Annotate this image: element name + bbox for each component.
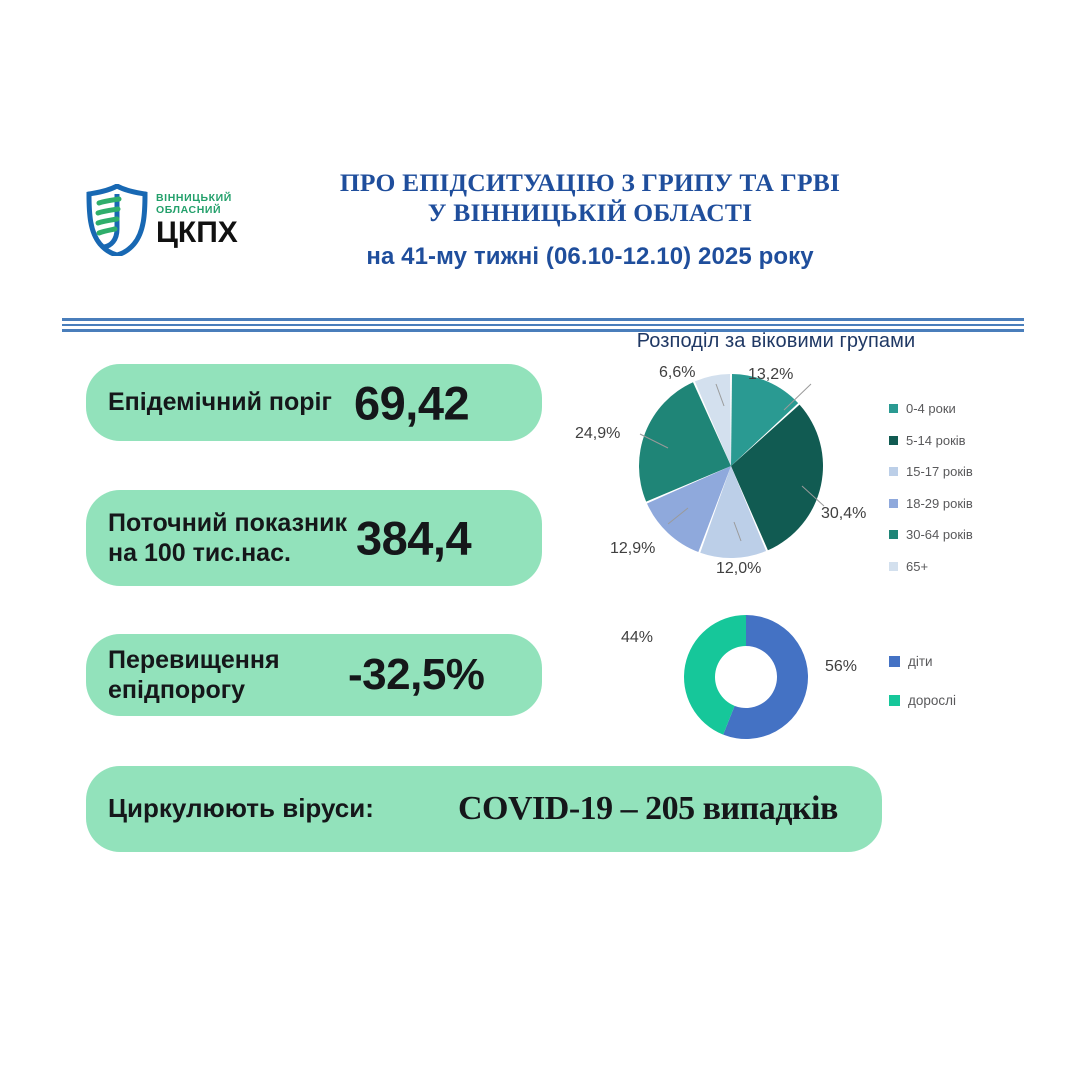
legend-swatch-icon <box>889 695 900 706</box>
pie-label-5-14: 30,4% <box>821 505 866 523</box>
pie-legend-label: 5-14 років <box>906 433 966 448</box>
card-current-label: Поточний показник на 100 тис.нас. <box>108 508 347 569</box>
legend-swatch-icon <box>889 499 898 508</box>
pie-legend-item-0[interactable]: 0-4 роки <box>889 393 1079 425</box>
pie-label-0-4: 13,2% <box>748 366 793 384</box>
card-current-indicator: Поточний показник на 100 тис.нас. 384,4 <box>86 490 542 586</box>
card-excess-label: Перевищення епідпорогу <box>108 645 280 706</box>
pie-label-15-17: 12,0% <box>716 560 761 578</box>
donut-chart-legend: дітидорослі <box>889 642 1069 720</box>
pie-legend-label: 30-64 років <box>906 527 973 542</box>
donut-chart-graphic <box>676 607 816 747</box>
donut-legend-label: діти <box>908 654 933 669</box>
card-excess-label-line2: епідпорогу <box>108 676 245 704</box>
card-excess-value: -32,5% <box>348 650 484 700</box>
pie-label-18-29: 12,9% <box>610 540 655 558</box>
pie-label-65plus: 6,6% <box>659 364 695 382</box>
card-excess-label-line1: Перевищення <box>108 646 280 674</box>
legend-swatch-icon <box>889 436 898 445</box>
card-current-label-line1: Поточний показник <box>108 509 347 537</box>
card-threshold-label: Епідемічний поріг <box>108 387 332 418</box>
pie-legend-item-1[interactable]: 5-14 років <box>889 425 1079 457</box>
donut-legend-label: дорослі <box>908 693 956 708</box>
pie-chart-title: Розподіл за віковими групами <box>566 330 986 353</box>
card-epidemic-threshold: Епідемічний поріг 69,42 <box>86 364 542 441</box>
donut-legend-item-1[interactable]: дорослі <box>889 681 1069 720</box>
card-viruses-label: Циркулюють віруси: <box>108 793 374 825</box>
children-adults-chart: 56% 44% дітидорослі <box>566 600 1080 760</box>
pie-legend-item-3[interactable]: 18-29 років <box>889 488 1079 520</box>
legend-swatch-icon <box>889 404 898 413</box>
pie-legend-item-5[interactable]: 65+ <box>889 551 1079 583</box>
pie-legend-label: 0-4 роки <box>906 401 956 416</box>
legend-swatch-icon <box>889 530 898 539</box>
infographic-page: ВІННИЦЬКИЙ ОБЛАСНИЙ ЦКПХ ПРО ЕПІДСИТУАЦІ… <box>0 0 1080 1080</box>
donut-label-adults: 44% <box>621 629 653 647</box>
pie-legend-label: 65+ <box>906 559 928 574</box>
legend-swatch-icon <box>889 656 900 667</box>
card-circulating-viruses: Циркулюють віруси: COVID-19 – 205 випадк… <box>86 766 882 852</box>
pie-chart-legend: 0-4 роки5-14 років15-17 років18-29 років… <box>889 393 1079 582</box>
card-viruses-value: COVID-19 – 205 випадків <box>458 790 838 828</box>
legend-swatch-icon <box>889 467 898 476</box>
card-threshold-value: 69,42 <box>354 375 469 430</box>
age-distribution-chart: Розподіл за віковими групами 13,2% 30,4%… <box>566 330 1080 590</box>
card-current-value: 384,4 <box>356 511 471 566</box>
card-threshold-excess: Перевищення епідпорогу -32,5% <box>86 634 542 716</box>
legend-swatch-icon <box>889 562 898 571</box>
donut-legend-item-0[interactable]: діти <box>889 642 1069 681</box>
pie-legend-label: 15-17 років <box>906 464 973 479</box>
card-current-label-line2: на 100 тис.нас. <box>108 539 291 567</box>
pie-legend-item-4[interactable]: 30-64 років <box>889 519 1079 551</box>
donut-label-children: 56% <box>825 658 857 676</box>
pie-legend-item-2[interactable]: 15-17 років <box>889 456 1079 488</box>
pie-legend-label: 18-29 років <box>906 496 973 511</box>
pie-label-30-64: 24,9% <box>575 425 620 443</box>
